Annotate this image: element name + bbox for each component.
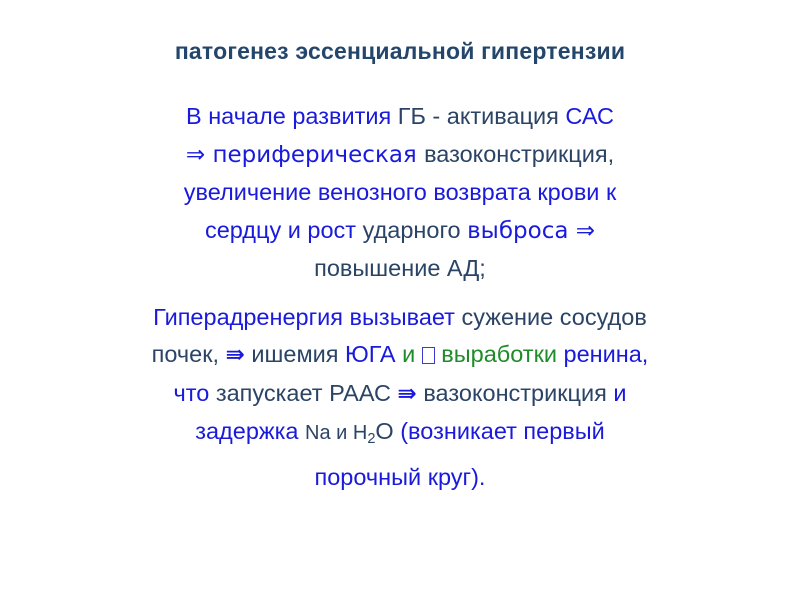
heavy-double-arrow-icon: ⇛ xyxy=(398,381,417,407)
text-run: ЮГА xyxy=(345,341,402,367)
text-line: увеличение венозного возврата крови к xyxy=(48,174,752,212)
text-run: почек, xyxy=(152,341,226,367)
text-line: В начале развития ГБ - активация САС xyxy=(48,98,752,136)
text-run: САС xyxy=(565,103,614,129)
missing-glyph-box-icon xyxy=(422,347,435,364)
text-run: увеличение венозного возврата крови к xyxy=(184,179,617,205)
text-run: (возникает первый xyxy=(400,418,605,444)
text-run: повышение АД; xyxy=(314,255,486,281)
double-arrow-icon: ⇒ периферическая xyxy=(186,142,424,168)
text-line: Гиперадренергия вызывает сужение сосудов xyxy=(48,299,752,337)
text-run-with-double-arrow-icon: выброса ⇒ xyxy=(467,218,595,244)
text-run: выработки xyxy=(435,341,564,367)
text-run: и xyxy=(613,380,626,406)
text-line: что запускает РААС ⇛ вазоконстрикция и xyxy=(48,375,752,414)
text-run: Гиперадренергия вызывает xyxy=(153,304,461,330)
page-title: патогенез эссенциальной гипертензии xyxy=(0,38,800,66)
text-line: повышение АД; xyxy=(48,250,752,288)
text-run: В начале развития xyxy=(186,103,398,129)
text-run: что xyxy=(173,380,215,406)
text-line: почек, ⇛ ишемия ЮГА и выработки ренина, xyxy=(48,336,752,375)
text-line: порочный круг). xyxy=(48,459,752,497)
text-run: ударного xyxy=(363,217,468,243)
text-run: Na и H xyxy=(305,422,367,444)
text-run: ренина, xyxy=(564,341,649,367)
text-line: задержка Na и H2O (возникает первый xyxy=(48,413,752,459)
text-run: порочный круг). xyxy=(315,464,486,490)
text-run: вазоконстрикция xyxy=(417,380,614,406)
heavy-double-arrow-icon: ⇛ xyxy=(226,342,245,368)
text-line: сердцу и рост ударного выброса ⇒ xyxy=(48,212,752,251)
text-run: ГБ - активация xyxy=(398,103,566,129)
text-run: задержка xyxy=(195,418,305,444)
text-run: ишемия xyxy=(245,341,345,367)
text-run: запускает РААС xyxy=(216,380,398,406)
text-run: O xyxy=(375,418,400,444)
text-run: сердцу и рост xyxy=(205,217,363,243)
text-line: ⇒ периферическая вазоконстрикция, xyxy=(48,136,752,175)
slide-body-text: В начале развития ГБ - активация САС ⇒ п… xyxy=(48,98,752,496)
paragraph-2: Гиперадренергия вызывает сужение сосудов… xyxy=(48,299,752,497)
text-run: вазоконстрикция, xyxy=(424,141,614,167)
text-run: сужение сосудов xyxy=(461,304,646,330)
slide-canvas: патогенез эссенциальной гипертензии В на… xyxy=(0,0,800,600)
paragraph-1: В начале развития ГБ - активация САС ⇒ п… xyxy=(48,98,752,288)
text-run: и xyxy=(402,341,422,367)
